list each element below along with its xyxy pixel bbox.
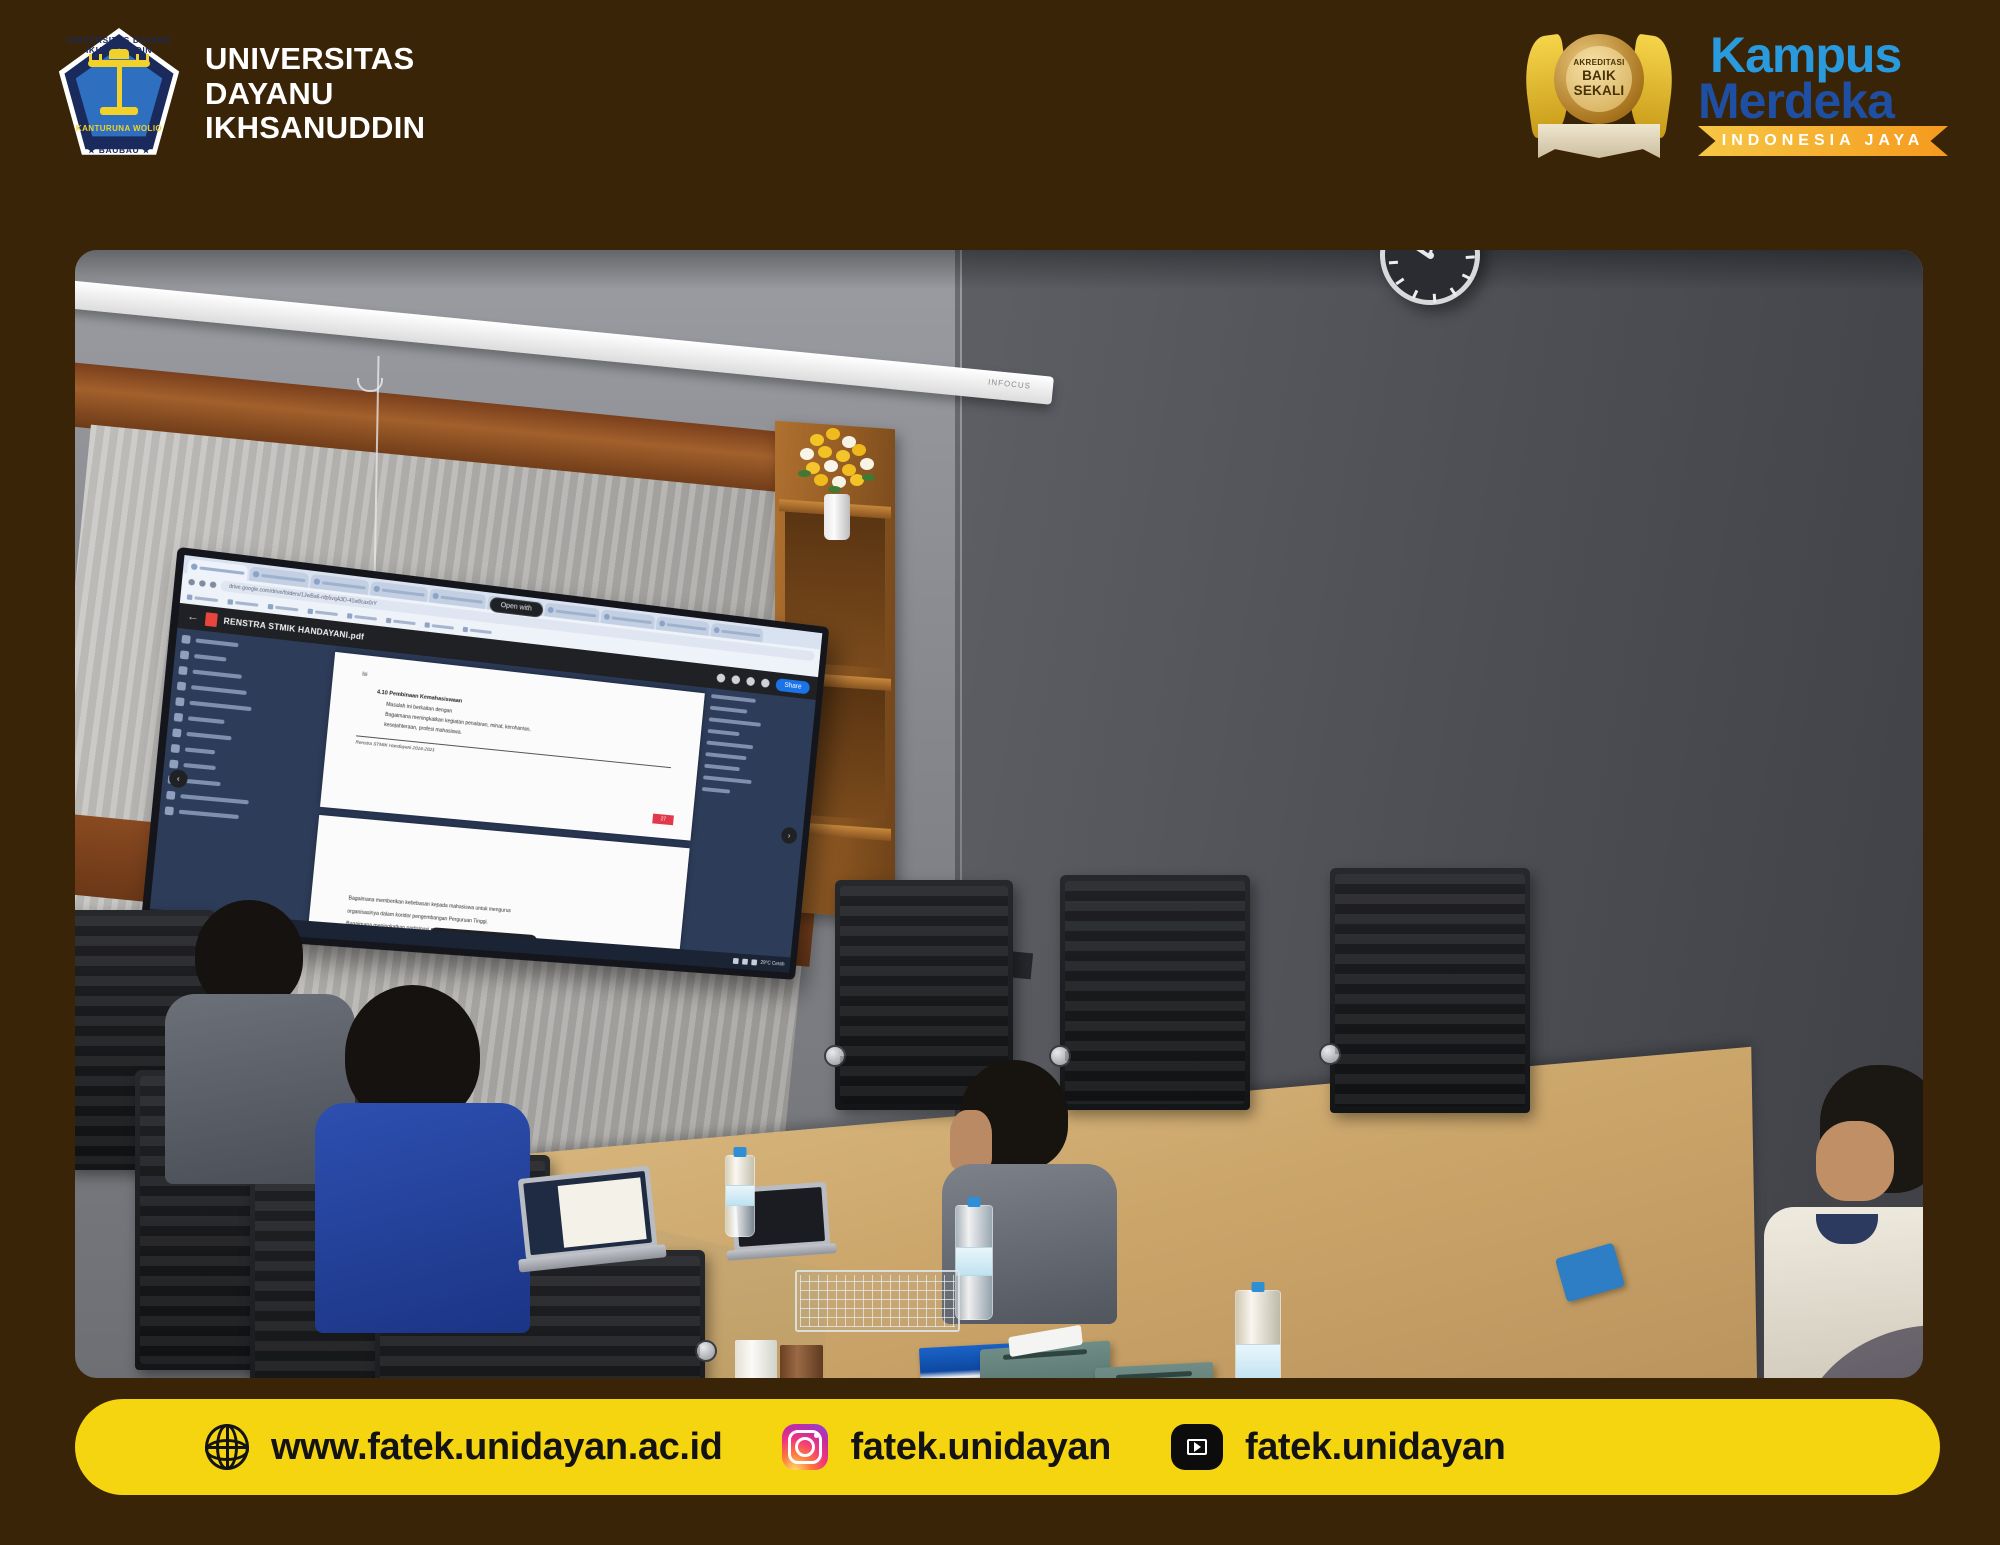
bookmark-item[interactable] <box>307 608 338 617</box>
pdf-page-number-badge: 27 <box>653 814 674 826</box>
university-name-line-3: IKHSANUDDIN <box>205 111 425 146</box>
page-header: UNIVERSITAS DAYANU IKHSANUDDIN KANTURUNA… <box>0 0 2000 195</box>
person-foreground-right <box>1795 1325 1923 1378</box>
share-button[interactable]: Share <box>776 678 811 694</box>
person-blue-shirt-laptop <box>345 985 530 1333</box>
university-name: UNIVERSITAS DAYANU IKHSANUDDIN <box>205 42 425 146</box>
bookmark-item[interactable] <box>347 613 377 622</box>
bookmark-item[interactable] <box>386 618 416 627</box>
bookmark-item[interactable] <box>463 627 492 635</box>
water-bottle <box>725 1155 755 1237</box>
instagram-icon <box>782 1424 828 1470</box>
bookmark-item[interactable] <box>227 599 258 608</box>
kampus-merdeka-line-2: Merdeka <box>1698 78 1958 124</box>
youtube-contact[interactable]: fatek.unidayan <box>1171 1424 1505 1470</box>
instagram-handle[interactable]: fatek.unidayan <box>850 1426 1110 1469</box>
pdf-file-icon <box>205 612 218 627</box>
website-text[interactable]: www.fatek.unidayan.ac.id <box>271 1426 722 1469</box>
partner-logos: AKREDITASI BAIK SEKALI Kampus Merdeka IN… <box>1524 22 1958 162</box>
bookmark-item[interactable] <box>187 594 219 603</box>
globe-icon <box>205 1424 249 1470</box>
instagram-contact[interactable]: fatek.unidayan <box>782 1424 1110 1470</box>
wire-basket <box>795 1270 960 1332</box>
network-icon[interactable] <box>733 958 739 964</box>
reload-icon[interactable] <box>210 581 217 588</box>
pdf-page-current: Isi 4.10 Pembinaan Kemahasiswaan Masalah… <box>320 652 705 841</box>
back-arrow-icon[interactable]: ← <box>187 610 200 624</box>
youtube-handle[interactable]: fatek.unidayan <box>1245 1426 1505 1469</box>
plastic-cup <box>735 1340 777 1378</box>
youtube-icon <box>1171 1424 1223 1470</box>
back-icon[interactable] <box>188 579 195 586</box>
bookmark-item[interactable] <box>424 622 454 630</box>
kampus-merdeka-line-1: Kampus <box>1698 32 1958 78</box>
seal-rim-bottom-text: ★ BAUBAU ★ <box>55 145 183 156</box>
download-icon[interactable] <box>746 676 755 686</box>
pdf-running-footer: Renstra STMIK Handayani 2016-2021 <box>355 739 676 776</box>
bookmark-item[interactable] <box>268 604 299 613</box>
kampus-merdeka-banner: INDONESIA JAYA <box>1698 126 1948 156</box>
meeting-room-photo: INFOCUS <box>75 250 1923 1378</box>
add-to-drive-icon[interactable] <box>732 674 741 684</box>
forward-icon[interactable] <box>199 580 206 587</box>
laptop <box>510 1165 668 1288</box>
accreditation-grade-1: BAIK <box>1582 68 1616 83</box>
water-bottle <box>1235 1290 1281 1378</box>
person-white-polo-right <box>1820 1065 1923 1244</box>
seal-motto-text: KANTURUNA WOLIO <box>55 124 183 133</box>
flower-vase <box>780 428 895 538</box>
accreditation-medal-icon: AKREDITASI BAIK SEKALI <box>1524 22 1674 162</box>
website-contact[interactable]: www.fatek.unidayan.ac.id <box>205 1424 722 1470</box>
university-seal-logo: UNIVERSITAS DAYANU IKHSANUDDIN KANTURUNA… <box>55 28 183 160</box>
accreditation-label: AKREDITASI <box>1573 59 1624 68</box>
office-chair <box>1330 868 1530 1113</box>
university-name-line-1: UNIVERSITAS <box>205 42 425 77</box>
coffee-cup <box>780 1345 823 1378</box>
water-bottle <box>955 1205 993 1320</box>
battery-icon[interactable] <box>751 959 757 965</box>
university-brand: UNIVERSITAS DAYANU IKHSANUDDIN KANTURUNA… <box>55 28 425 160</box>
volume-icon[interactable] <box>742 959 748 965</box>
university-name-line-2: DAYANU <box>205 77 425 112</box>
print-icon[interactable] <box>717 673 726 683</box>
footer-contact-bar: www.fatek.unidayan.ac.id fatek.unidayan … <box>75 1399 1940 1495</box>
accreditation-grade-2: SEKALI <box>1574 83 1625 98</box>
kampus-merdeka-logo: Kampus Merdeka INDONESIA JAYA <box>1698 32 1958 152</box>
more-options-icon[interactable] <box>761 678 770 688</box>
kampus-merdeka-banner-text: INDONESIA JAYA <box>1722 132 1925 150</box>
oil-lamp-icon <box>88 54 150 120</box>
taskbar-clock: 29°C Cerah <box>760 960 784 968</box>
ceiling-shadow <box>75 250 1923 290</box>
